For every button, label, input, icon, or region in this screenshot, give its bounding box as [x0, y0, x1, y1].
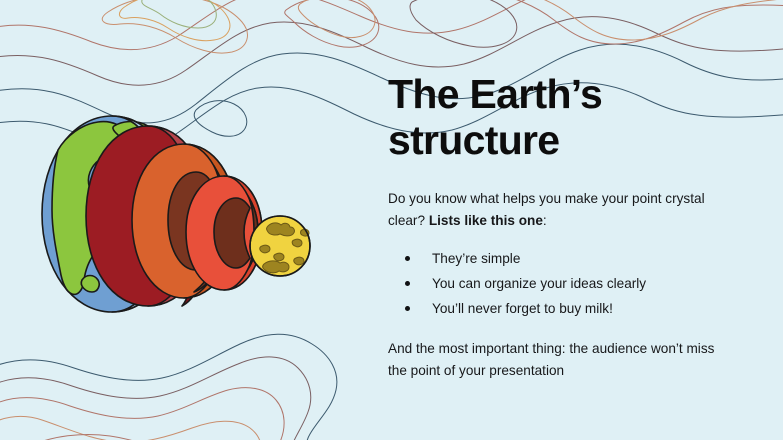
contour-line: [298, 0, 375, 38]
bullet-list: They’re simple You can organize your ide…: [388, 248, 724, 320]
contour-line: [488, 0, 783, 44]
list-item-label: You’ll never forget to buy milk!: [432, 301, 613, 316]
list-item: You’ll never forget to buy milk!: [388, 298, 724, 320]
page-title: The Earth’s structure: [388, 72, 724, 164]
list-item-label: They’re simple: [432, 251, 520, 266]
contour-line: [0, 417, 261, 440]
bullet-dot-icon: [405, 256, 410, 261]
contour-line: [0, 357, 311, 440]
contour-line: [506, 0, 783, 40]
earth-layers-cutaway: [28, 104, 338, 324]
bullet-dot-icon: [405, 306, 410, 311]
list-item: They’re simple: [388, 248, 724, 270]
slide-canvas: The Earth’s structure Do you know what h…: [0, 0, 783, 440]
contour-line: [30, 434, 178, 440]
list-item: You can organize your ideas clearly: [388, 273, 724, 295]
contour-line: [285, 0, 379, 47]
contour-line: [102, 0, 247, 53]
bullet-dot-icon: [405, 281, 410, 286]
contour-line: [0, 334, 337, 440]
intro-text-after-bold: :: [543, 213, 547, 228]
contour-line: [410, 0, 517, 47]
contour-line: [119, 0, 229, 41]
layer-continents: [81, 276, 99, 293]
text-column: The Earth’s structure Do you know what h…: [388, 72, 724, 382]
closing-paragraph: And the most important thing: the audien…: [388, 338, 724, 382]
intro-text-bold: Lists like this one: [429, 213, 543, 228]
contour-line: [142, 0, 217, 28]
contour-line: [0, 0, 550, 50]
contour-line: [0, 388, 284, 440]
list-item-label: You can organize your ideas clearly: [432, 276, 646, 291]
intro-paragraph: Do you know what helps you make your poi…: [388, 188, 724, 232]
